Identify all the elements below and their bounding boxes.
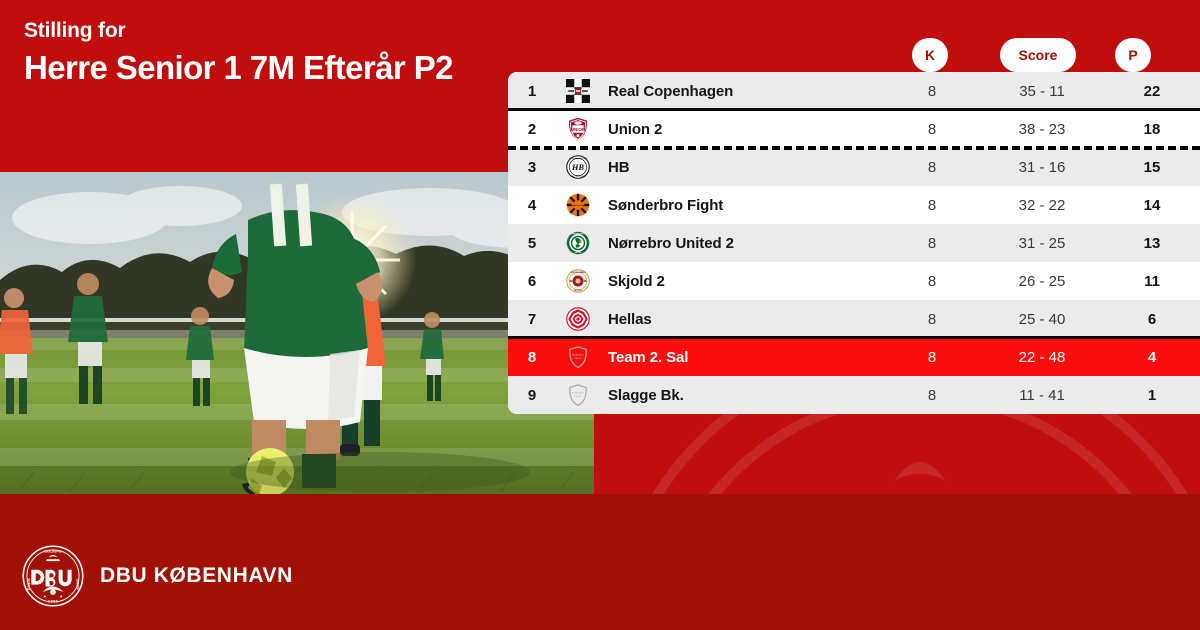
row-team-name: Slagge Bk.: [600, 387, 884, 404]
sonderbro-fight-logo-icon: [556, 193, 600, 217]
row-position: 1: [508, 83, 556, 100]
row-position: 4: [508, 197, 556, 214]
page-title: Herre Senior 1 7M Efterår P2: [24, 48, 494, 88]
hellas-logo-icon: [556, 307, 600, 331]
table-row[interactable]: 6Skjold 2826 - 2511: [508, 262, 1200, 300]
row-goal-score: 31 - 16: [980, 159, 1104, 176]
dbu-crest-logo: 1889 · BOLDSPIL · DANSK UNION: [22, 545, 84, 607]
football-match-photo: [0, 172, 594, 494]
skjold-logo-icon: [556, 269, 600, 293]
footer-wordmark: DBU KØBENHAVN: [100, 564, 293, 588]
hb-logo-icon: [556, 155, 600, 179]
row-team-name: Nørrebro United 2: [600, 235, 884, 252]
table-row[interactable]: 1Real Copenhagen835 - 1122: [508, 72, 1200, 110]
row-position: 8: [508, 349, 556, 366]
row-team-name: Sønderbro Fight: [600, 197, 884, 214]
standings-graphic: Stilling for Herre Senior 1 7M Efterår P…: [0, 0, 1200, 630]
column-header-p: P: [1115, 38, 1151, 72]
column-header-k: K: [912, 38, 948, 72]
row-points: 11: [1104, 273, 1200, 290]
row-matches-played: 8: [884, 273, 980, 290]
real-copenhagen-logo-icon: [556, 79, 600, 103]
footer-band: [0, 494, 1200, 630]
row-goal-score: 38 - 23: [980, 121, 1104, 138]
table-row[interactable]: 2Union 2838 - 2318: [508, 110, 1200, 148]
row-goal-score: 22 - 48: [980, 349, 1104, 366]
row-position: 9: [508, 387, 556, 404]
row-separator-solid: [508, 108, 1200, 111]
row-separator-dashed: [508, 146, 1200, 150]
column-header-score: Score: [1000, 38, 1076, 72]
row-matches-played: 8: [884, 121, 980, 138]
row-points: 1: [1104, 387, 1200, 404]
row-goal-score: 35 - 11: [980, 83, 1104, 100]
norrebro-united-logo-icon: [556, 231, 600, 255]
row-position: 3: [508, 159, 556, 176]
table-row[interactable]: 8Team 2. Sal822 - 484: [508, 338, 1200, 376]
kicker-label: Stilling for: [24, 18, 494, 44]
row-position: 7: [508, 311, 556, 328]
svg-text:UNION: UNION: [76, 579, 80, 591]
row-separator-solid: [508, 336, 1200, 339]
placeholder-shield-logo-icon: [556, 345, 600, 369]
row-points: 4: [1104, 349, 1200, 366]
row-points: 22: [1104, 83, 1200, 100]
union-logo-icon: [556, 117, 600, 141]
row-points: 18: [1104, 121, 1200, 138]
row-team-name: Hellas: [600, 311, 884, 328]
row-goal-score: 32 - 22: [980, 197, 1104, 214]
standings-table: 1Real Copenhagen835 - 11222Union 2838 - …: [508, 72, 1200, 414]
row-goal-score: 11 - 41: [980, 387, 1104, 404]
header: Stilling for Herre Senior 1 7M Efterår P…: [24, 18, 494, 88]
svg-text:DANSK: DANSK: [27, 577, 31, 590]
row-matches-played: 8: [884, 197, 980, 214]
row-team-name: Team 2. Sal: [600, 349, 884, 366]
row-points: 15: [1104, 159, 1200, 176]
row-position: 2: [508, 121, 556, 138]
row-matches-played: 8: [884, 235, 980, 252]
row-position: 6: [508, 273, 556, 290]
svg-text:1889: 1889: [48, 599, 59, 604]
table-row[interactable]: 9Slagge Bk.811 - 411: [508, 376, 1200, 414]
table-row[interactable]: 4Sønderbro Fight832 - 2214: [508, 186, 1200, 224]
svg-text:· BOLDSPIL ·: · BOLDSPIL ·: [42, 549, 63, 553]
row-position: 5: [508, 235, 556, 252]
table-row[interactable]: 7Hellas825 - 406: [508, 300, 1200, 338]
row-matches-played: 8: [884, 349, 980, 366]
row-matches-played: 8: [884, 311, 980, 328]
row-team-name: Union 2: [600, 121, 884, 138]
row-goal-score: 31 - 25: [980, 235, 1104, 252]
row-goal-score: 26 - 25: [980, 273, 1104, 290]
row-points: 6: [1104, 311, 1200, 328]
table-row[interactable]: 5Nørrebro United 2831 - 2513: [508, 224, 1200, 262]
table-row[interactable]: 3HB831 - 1615: [508, 148, 1200, 186]
row-team-name: HB: [600, 159, 884, 176]
row-matches-played: 8: [884, 387, 980, 404]
row-team-name: Real Copenhagen: [600, 83, 884, 100]
placeholder-shield-logo-icon: [556, 383, 600, 407]
row-goal-score: 25 - 40: [980, 311, 1104, 328]
row-matches-played: 8: [884, 159, 980, 176]
row-points: 13: [1104, 235, 1200, 252]
row-matches-played: 8: [884, 83, 980, 100]
row-points: 14: [1104, 197, 1200, 214]
row-team-name: Skjold 2: [600, 273, 884, 290]
